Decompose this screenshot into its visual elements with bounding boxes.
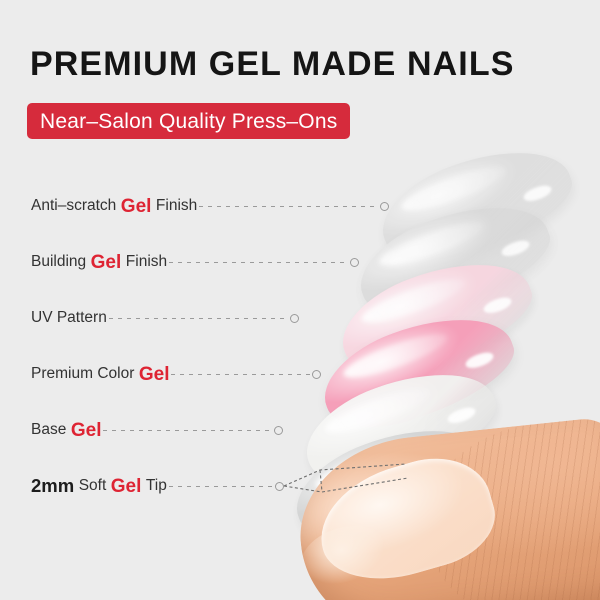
callout-label-gel: Gel xyxy=(111,477,142,496)
leader-line xyxy=(171,374,311,375)
callout-label-gel: Gel xyxy=(91,253,122,272)
page-title: PREMIUM GEL MADE NAILS xyxy=(30,47,514,81)
leader-endpoint-dot xyxy=(350,258,359,267)
callout-label-pre: 2mm xyxy=(31,477,74,496)
subtitle-badge-label: Near–Salon Quality Press–Ons xyxy=(40,111,337,132)
layer-spot-highlight xyxy=(464,350,496,371)
callout-label-post: Tip xyxy=(146,478,167,494)
callout-label-gel: Gel xyxy=(71,421,102,440)
callout-label-post: Finish xyxy=(156,198,197,214)
callout-row: 2mmSoftGelTip xyxy=(31,474,284,498)
callout-row: BuildingGelFinish xyxy=(31,250,359,274)
callout-row: BaseGel xyxy=(31,418,283,442)
callout-label-gel: Gel xyxy=(121,197,152,216)
leader-line xyxy=(109,318,289,319)
callout-label-pre: Premium Color xyxy=(31,366,134,382)
layer-spot-highlight xyxy=(500,238,532,259)
leader-line xyxy=(169,486,274,487)
leader-endpoint-dot xyxy=(274,426,283,435)
callout-label-gel: Gel xyxy=(139,365,170,384)
callout-label-mid: Soft xyxy=(79,478,107,494)
callout-label-pre: Anti–scratch xyxy=(31,198,116,214)
callout-label-pre: UV Pattern xyxy=(31,310,107,326)
leader-endpoint-dot xyxy=(275,482,284,491)
layer-spot-highlight xyxy=(446,405,478,426)
leader-line xyxy=(103,430,273,431)
infographic-canvas: PREMIUM GEL MADE NAILS Near–Salon Qualit… xyxy=(0,0,600,600)
callout-label-pre: Base xyxy=(31,422,66,438)
callout-label-post: Finish xyxy=(126,254,167,270)
leader-endpoint-dot xyxy=(312,370,321,379)
subtitle-badge: Near–Salon Quality Press–Ons xyxy=(27,103,350,139)
leader-line xyxy=(199,206,379,207)
callout-row: Anti–scratchGelFinish xyxy=(31,194,389,218)
2mm-thickness-bracket xyxy=(280,462,410,508)
layer-spot-highlight xyxy=(482,295,514,316)
callout-label-pre: Building xyxy=(31,254,86,270)
leader-line xyxy=(169,262,349,263)
callout-row: Premium ColorGel xyxy=(31,362,321,386)
leader-endpoint-dot xyxy=(290,314,299,323)
callout-row: UV Pattern xyxy=(31,306,299,330)
leader-endpoint-dot xyxy=(380,202,389,211)
layer-spot-highlight xyxy=(522,183,554,204)
